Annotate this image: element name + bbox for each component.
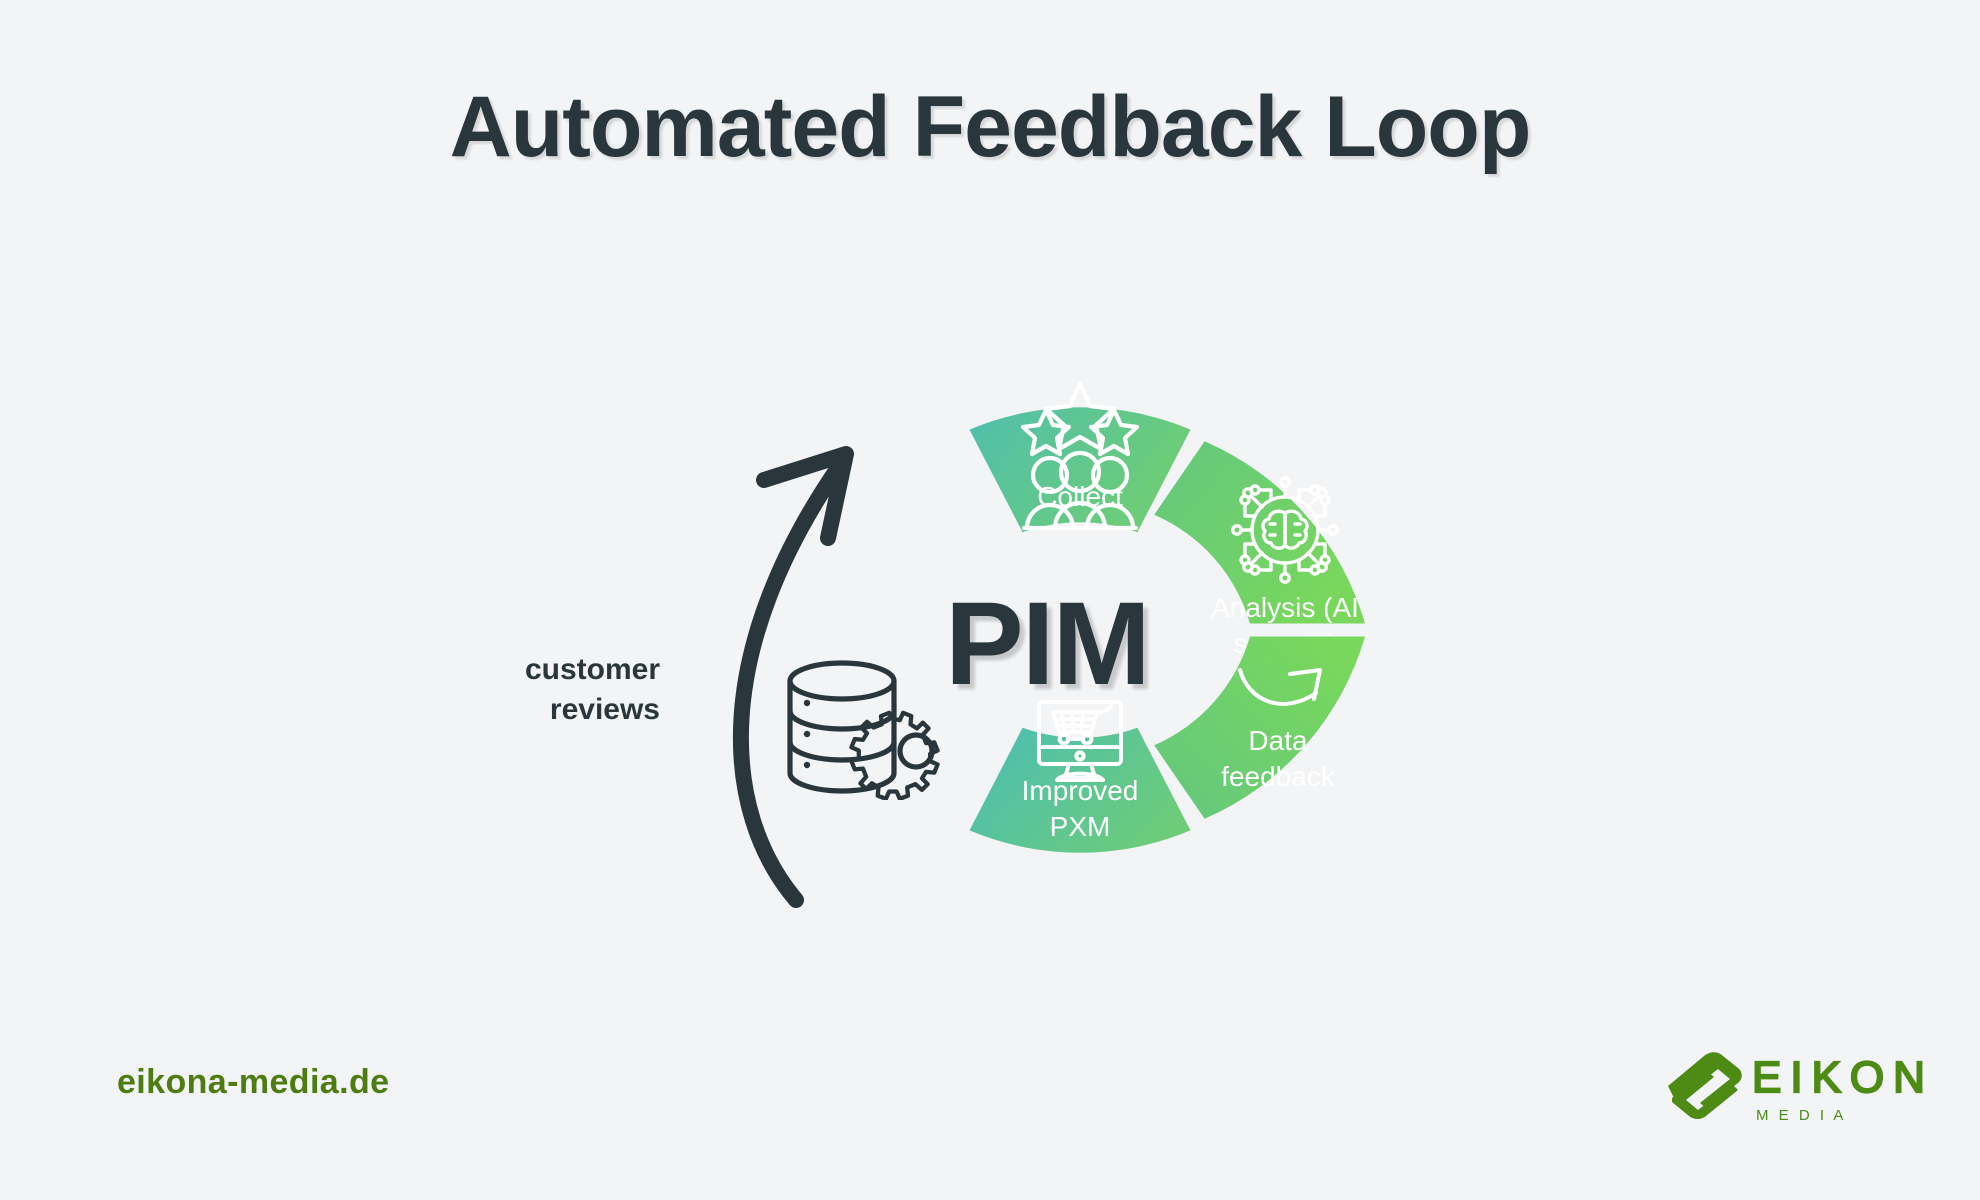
segment-data-feedback-label-line1: Data [1248,725,1308,756]
logo-wordmark: EIKONA [1752,1053,1930,1102]
segment-analysis[interactable]: Analysis (AI support) [1154,441,1365,659]
segment-improved-pxm-label-line1: Improved [1022,775,1139,806]
center-pim-label: PIM [945,585,1149,703]
segment-analysis-label-line1: Analysis (AI [1211,592,1359,623]
eikona-ribbon-icon [1668,1052,1742,1119]
customer-reviews-line2: reviews [480,690,660,730]
customer-reviews-line1: customer [480,650,660,690]
logo-subtitle: M E D I A [1756,1107,1846,1124]
segment-collect-label: Collect [1037,481,1123,512]
segment-data-feedback-label-line2: feedback [1221,761,1336,792]
website-url[interactable]: eikona-media.de [117,1063,389,1102]
segment-data-feedback[interactable]: Data feedback [1154,637,1365,819]
page-title: Automated Feedback Loop [0,78,1980,177]
segment-improved-pxm-label-line2: PXM [1050,811,1111,842]
eikona-media-logo: EIKONA M E D I A [1660,1040,1930,1140]
segment-improved-pxm[interactable]: Improved PXM [970,702,1191,853]
curved-up-arrow-icon [660,440,890,920]
customer-reviews-label: customer reviews [480,650,660,729]
segment-collect[interactable]: Collect [970,384,1191,532]
